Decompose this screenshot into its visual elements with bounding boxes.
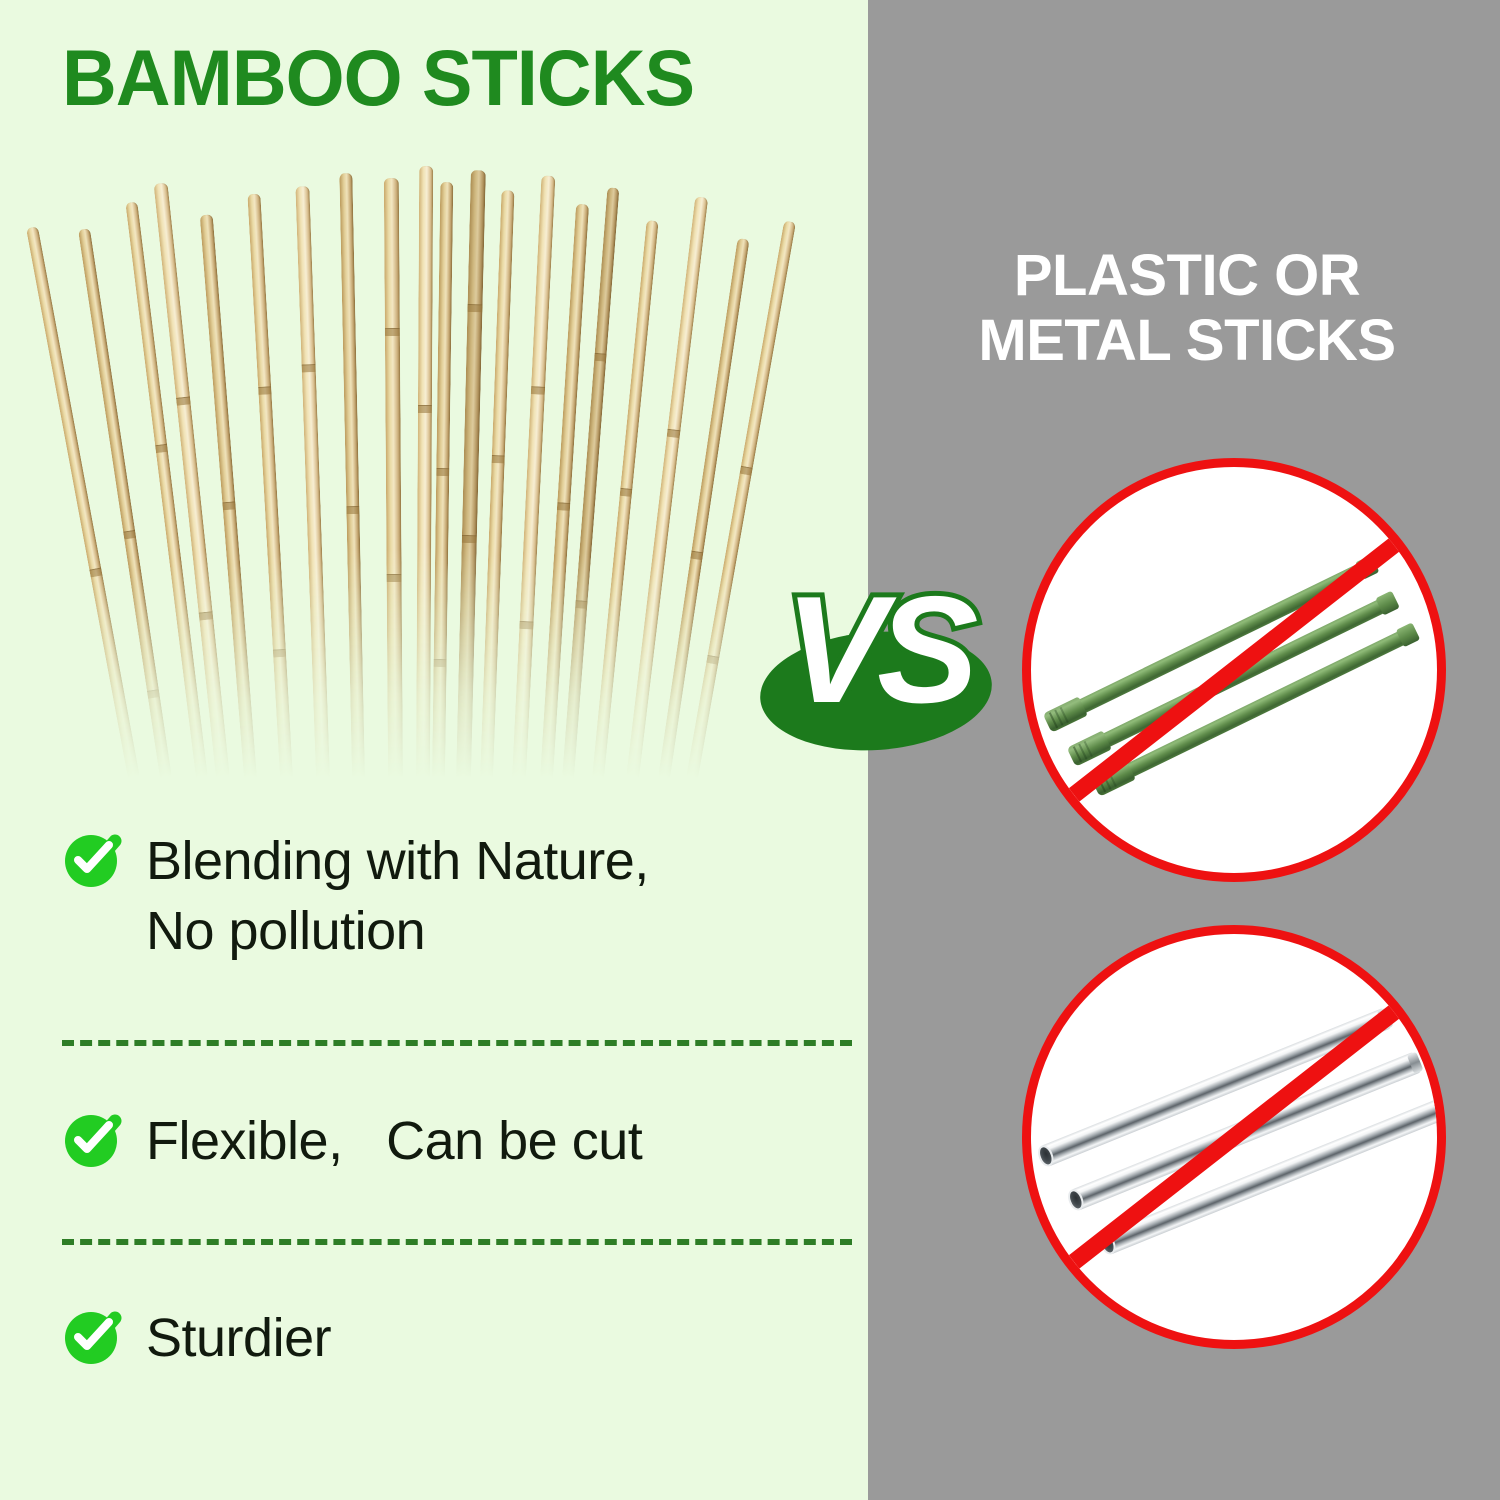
bamboo-node	[345, 506, 360, 514]
bamboo-stick	[480, 190, 515, 778]
stake-tip	[1375, 591, 1400, 616]
list-item-label: Flexible, Can be cut	[146, 1106, 642, 1176]
bamboo-stick	[384, 178, 403, 778]
bamboo-stick	[247, 194, 293, 779]
versus-label: VS	[752, 550, 1002, 750]
tube-far-end	[1407, 1052, 1424, 1074]
bamboo-node	[466, 304, 483, 312]
prohibited-metal-sticks	[1022, 925, 1446, 1349]
list-item-label: Sturdier	[146, 1303, 331, 1373]
versus-badge: VS	[752, 556, 1002, 756]
check-circle-icon	[62, 1110, 122, 1170]
bamboo-node	[705, 654, 720, 664]
prohibition-slash-icon	[1062, 533, 1407, 807]
stake-ferrule	[1043, 696, 1088, 732]
bamboo-node	[739, 465, 754, 475]
check-circle-icon	[62, 1307, 122, 1367]
bamboo-node	[435, 468, 450, 476]
bamboo-stick	[339, 173, 365, 778]
bamboo-node	[198, 611, 215, 621]
list-item: Sturdier	[62, 1303, 852, 1373]
bamboo-node	[530, 386, 546, 395]
bamboo-stick	[432, 182, 453, 778]
feature-list: Blending with Nature, No pollution Flexi…	[62, 826, 852, 1373]
tube-opening	[1035, 1143, 1056, 1169]
plastic-stake	[1046, 558, 1376, 729]
spacer	[62, 1046, 852, 1106]
bamboo-node	[272, 649, 287, 658]
bamboo-node	[386, 574, 403, 582]
bamboo-node	[518, 621, 534, 630]
bamboo-sticks-image	[120, 168, 730, 778]
right-panel-title: PLASTIC OR METAL STICKS	[884, 244, 1490, 374]
bamboo-node	[257, 386, 272, 395]
bamboo-node	[384, 328, 401, 336]
bamboo-node	[301, 364, 317, 373]
tube-opening	[1065, 1187, 1086, 1213]
bamboo-node	[433, 659, 448, 667]
product-comparison-infographic: BAMBOO STICKS Blending with Nature, No p…	[0, 0, 1500, 1500]
list-item: Blending with Nature, No pollution	[62, 826, 852, 966]
bamboo-node	[689, 551, 704, 561]
bamboo-node	[593, 352, 608, 361]
bamboo-stick	[416, 166, 433, 778]
bamboo-node	[556, 502, 571, 511]
bamboo-node	[666, 429, 682, 439]
bamboo-node	[146, 689, 161, 699]
bamboo-node	[154, 443, 169, 453]
bamboo-node	[461, 535, 478, 543]
spacer	[62, 966, 852, 1040]
page-title: BAMBOO STICKS	[62, 36, 820, 120]
bamboo-node	[221, 501, 237, 510]
spacer	[62, 1245, 852, 1303]
right-title-line-2: METAL STICKS	[884, 309, 1490, 374]
bamboo-node	[88, 567, 103, 577]
bamboo-node	[574, 600, 589, 609]
bamboo-stick	[456, 170, 486, 778]
prohibited-plastic-sticks	[1022, 458, 1446, 882]
bamboo-node	[619, 488, 634, 497]
bamboo-node	[175, 397, 192, 407]
list-item-label: Blending with Nature, No pollution	[146, 826, 649, 966]
bamboo-node	[491, 455, 506, 464]
bamboo-stick	[295, 186, 330, 778]
right-title-line-1: PLASTIC OR	[884, 244, 1490, 309]
bamboo-node	[417, 405, 433, 413]
list-item: Flexible, Can be cut	[62, 1106, 852, 1176]
stake-tip	[1396, 622, 1421, 647]
spacer	[62, 1177, 852, 1239]
bamboo-node	[122, 530, 137, 540]
bamboo-panel: BAMBOO STICKS Blending with Nature, No p…	[0, 0, 868, 1500]
check-circle-icon	[62, 830, 122, 890]
bamboo-stick	[626, 196, 708, 778]
